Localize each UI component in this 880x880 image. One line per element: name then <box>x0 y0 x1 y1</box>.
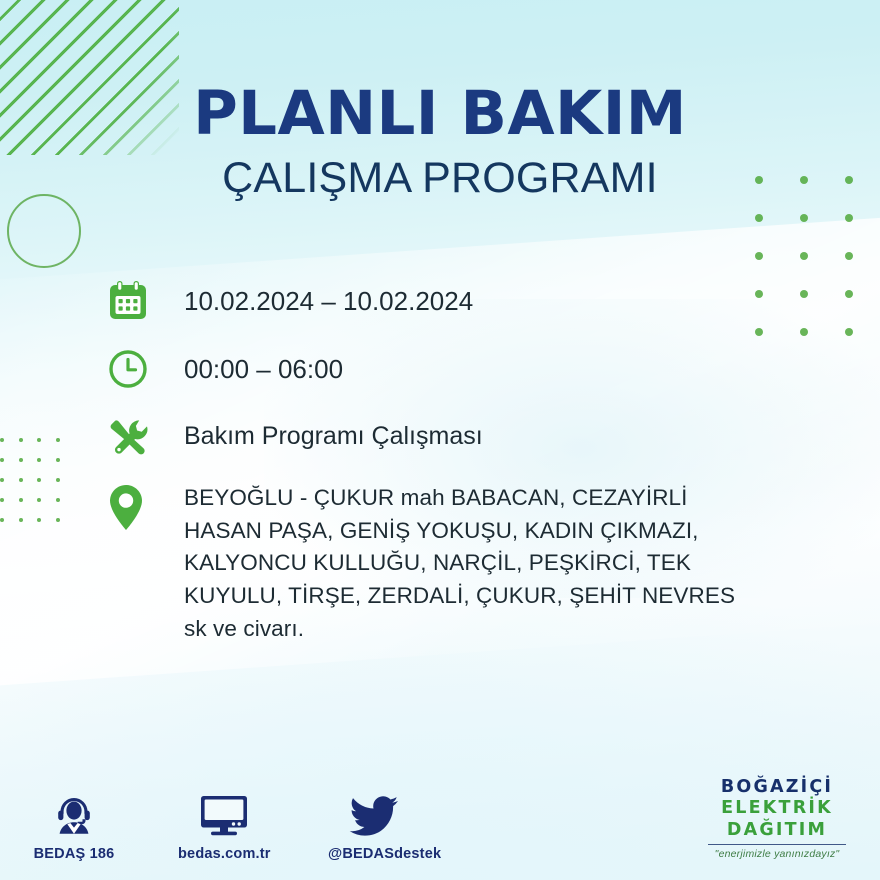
calendar-icon <box>108 278 160 324</box>
logo-line-bogazici: BOĞAZİÇİ <box>702 777 852 798</box>
logo-tagline: "enerjimizle yanınızdayız" <box>702 848 852 860</box>
tools-icon <box>108 414 160 460</box>
clock-icon <box>108 346 160 392</box>
work-type-text: Bakım Programı Çalışması <box>160 414 483 452</box>
info-row-time: 00:00 – 06:00 <box>108 346 808 392</box>
info-row-date: 10.02.2024 – 10.02.2024 <box>108 278 808 324</box>
date-range-text: 10.02.2024 – 10.02.2024 <box>160 278 473 318</box>
logo-line-elektrik: ELEKTRİK <box>702 798 852 819</box>
dot-grid-left-decoration <box>0 438 70 533</box>
footer-contact-bar: BEDAŞ 186 bedas.com.tr @B <box>28 791 420 862</box>
info-row-work-type: Bakım Programı Çalışması <box>108 414 808 460</box>
footer-item-call-center[interactable]: BEDAŞ 186 <box>28 791 120 862</box>
poster-header: PLANLI BAKIM ÇALIŞMA PROGRAMI <box>0 82 880 202</box>
logo-divider <box>708 844 846 845</box>
footer-label-twitter: @BEDASdestek <box>328 846 420 862</box>
address-text: BEYOĞLU - ÇUKUR mah BABACAN, CEZAYİRLİ H… <box>160 482 744 645</box>
page-subtitle: ÇALIŞMA PROGRAMI <box>0 155 880 202</box>
footer-label-call-center: BEDAŞ 186 <box>28 846 120 862</box>
bedas-logo: BOĞAZİÇİ ELEKTRİK DAĞITIM "enerjimizle y… <box>702 777 852 860</box>
page-title: PLANLI BAKIM <box>0 82 880 146</box>
planned-maintenance-poster: PLANLI BAKIM ÇALIŞMA PROGRAMI <box>0 0 880 880</box>
circle-outline-decoration <box>7 194 81 268</box>
info-row-address: BEYOĞLU - ÇUKUR mah BABACAN, CEZAYİRLİ H… <box>108 482 808 645</box>
support-agent-icon <box>28 791 120 837</box>
footer-item-website[interactable]: bedas.com.tr <box>178 791 270 862</box>
footer-label-website: bedas.com.tr <box>178 846 270 862</box>
maintenance-info-block: 10.02.2024 – 10.02.2024 00:00 – 06:00 <box>108 278 808 667</box>
monitor-icon <box>178 791 270 837</box>
footer-item-twitter[interactable]: @BEDASdestek <box>328 791 420 862</box>
twitter-bird-icon <box>328 791 420 837</box>
location-pin-icon <box>108 482 160 530</box>
time-range-text: 00:00 – 06:00 <box>160 346 343 386</box>
logo-line-dagitim: DAĞITIM <box>702 820 852 841</box>
